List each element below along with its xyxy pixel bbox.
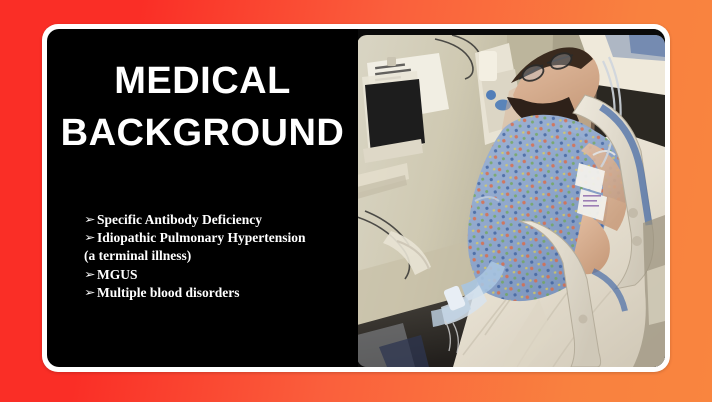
list-item-continuation: (a terminal illness) (84, 247, 354, 265)
list-item-label: Specific Antibody Deficiency (97, 211, 354, 229)
page-title: MEDICAL BACKGROUND (47, 55, 358, 159)
list-item-label: Idiopathic Pulmonary Hypertension (97, 229, 354, 247)
arrow-bullet-icon: ➢ (84, 211, 100, 229)
text-column: MEDICAL BACKGROUND ➢ Specific Antibody D… (47, 29, 358, 367)
list-item-label: Multiple blood disorders (97, 284, 354, 302)
list-item: ➢ Multiple blood disorders (84, 284, 354, 302)
patient-in-hospital-bed-photo (358, 35, 665, 367)
slide-frame: MEDICAL BACKGROUND ➢ Specific Antibody D… (42, 24, 670, 372)
list-item-label: (a terminal illness) (84, 247, 354, 265)
list-item: ➢ Specific Antibody Deficiency (84, 211, 354, 229)
bullet-list: ➢ Specific Antibody Deficiency ➢ Idiopat… (84, 211, 354, 302)
arrow-bullet-icon: ➢ (84, 284, 100, 302)
slide-card: MEDICAL BACKGROUND ➢ Specific Antibody D… (47, 29, 665, 367)
list-item-label: MGUS (97, 266, 354, 284)
arrow-bullet-icon: ➢ (84, 266, 100, 284)
list-item: ➢ MGUS (84, 266, 354, 284)
arrow-bullet-icon: ➢ (84, 229, 100, 247)
list-item: ➢ Idiopathic Pulmonary Hypertension (84, 229, 354, 247)
photo-panel (358, 29, 665, 367)
